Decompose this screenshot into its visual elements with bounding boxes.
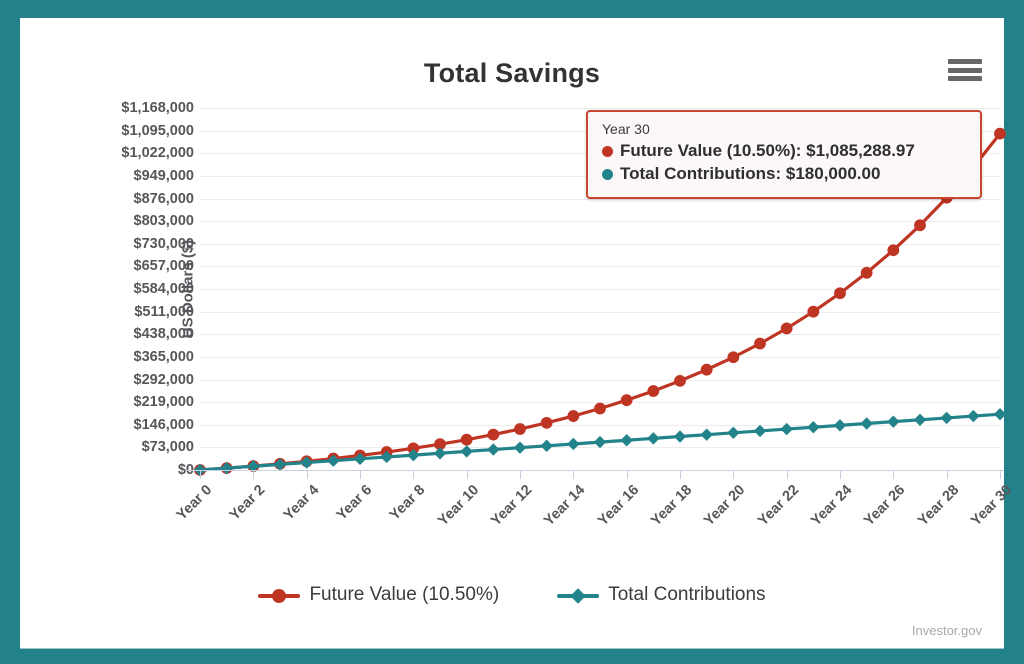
legend-symbol (557, 587, 599, 603)
legend-item-1[interactable]: Future Value (10.50%) (258, 584, 499, 606)
y-axis-tick-label: $511,000 (0, 304, 194, 320)
circle-marker (272, 589, 286, 603)
y-axis-tick-label: $292,000 (0, 372, 194, 388)
chart-panel: Total Savings US Dollars ($) $0$73,000$1… (20, 18, 1004, 648)
data-point-circle[interactable] (887, 244, 899, 256)
data-point-circle[interactable] (914, 219, 926, 231)
y-axis-tick-label: $438,000 (0, 326, 194, 342)
tooltip-row: Total Contributions: $180,000.00 (602, 163, 966, 186)
legend-label: Future Value (10.50%) (309, 584, 499, 606)
y-axis-tick-label: $146,000 (0, 417, 194, 433)
x-axis-tick (893, 470, 894, 479)
data-point-circle[interactable] (727, 351, 739, 363)
tooltip-header: Year 30 (602, 121, 966, 137)
data-point-diamond[interactable] (567, 438, 579, 450)
y-axis-tick-label: $73,000 (0, 439, 194, 455)
x-axis-tick (307, 470, 308, 479)
y-axis-tick-label: $1,095,000 (0, 123, 194, 139)
data-point-diamond[interactable] (940, 412, 952, 424)
data-point-diamond[interactable] (860, 417, 872, 429)
data-point-circle[interactable] (861, 267, 873, 279)
y-axis-tick-label: $657,000 (0, 258, 194, 274)
data-point-circle[interactable] (701, 364, 713, 376)
data-point-diamond[interactable] (540, 440, 552, 452)
data-point-diamond[interactable] (514, 441, 526, 453)
data-point-diamond[interactable] (887, 415, 899, 427)
y-axis-tick-label: $0 (0, 462, 194, 478)
data-point-diamond[interactable] (647, 432, 659, 444)
watermark: Investor.gov (912, 623, 982, 638)
chart-frame: Total Savings US Dollars ($) $0$73,000$1… (0, 0, 1024, 664)
data-point-circle[interactable] (567, 410, 579, 422)
x-axis-tick (733, 470, 734, 479)
data-point-diamond[interactable] (594, 436, 606, 448)
y-axis-tick-label: $1,022,000 (0, 145, 194, 161)
data-point-diamond[interactable] (700, 428, 712, 440)
menu-bar-1 (948, 59, 982, 64)
x-axis-tick (627, 470, 628, 479)
circle-marker (602, 146, 613, 157)
y-axis-tick-label: $949,000 (0, 168, 194, 184)
x-axis-tick (947, 470, 948, 479)
data-point-diamond[interactable] (780, 423, 792, 435)
x-axis-tick (787, 470, 788, 479)
data-point-diamond[interactable] (914, 414, 926, 426)
data-point-circle[interactable] (594, 403, 606, 415)
x-axis: Year 0Year 2Year 4Year 6Year 8Year 10Yea… (200, 470, 1000, 590)
x-axis-tick (1000, 470, 1001, 479)
data-point-diamond[interactable] (674, 430, 686, 442)
data-point-circle[interactable] (834, 287, 846, 299)
y-axis-tick-label: $1,168,000 (0, 100, 194, 116)
circle-marker (602, 169, 613, 180)
data-point-diamond[interactable] (754, 425, 766, 437)
tooltip-row: Future Value (10.50%): $1,085,288.97 (602, 140, 966, 163)
data-point-circle[interactable] (514, 423, 526, 435)
x-axis-tick (467, 470, 468, 479)
data-point-circle[interactable] (994, 128, 1006, 140)
page-title: Total Savings (20, 58, 1004, 89)
data-point-diamond[interactable] (967, 410, 979, 422)
data-point-diamond[interactable] (487, 443, 499, 455)
data-point-circle[interactable] (647, 385, 659, 397)
data-point-circle[interactable] (754, 338, 766, 350)
data-point-diamond[interactable] (460, 445, 472, 457)
x-axis-tick (573, 470, 574, 479)
legend: Future Value (10.50%)Total Contributions (20, 584, 1004, 606)
data-point-diamond[interactable] (834, 419, 846, 431)
data-point-circle[interactable] (461, 434, 473, 446)
data-point-circle[interactable] (674, 375, 686, 387)
y-axis-tick-label: $803,000 (0, 213, 194, 229)
x-axis-tick (840, 470, 841, 479)
y-axis-tick-label: $365,000 (0, 349, 194, 365)
data-point-circle[interactable] (807, 306, 819, 318)
y-axis-tick-label: $219,000 (0, 394, 194, 410)
y-axis-tick-label: $876,000 (0, 191, 194, 207)
legend-label: Total Contributions (608, 584, 765, 606)
hamburger-menu-icon[interactable] (948, 56, 982, 84)
x-axis-tick (253, 470, 254, 479)
y-axis-tick-label: $584,000 (0, 281, 194, 297)
data-point-circle[interactable] (781, 323, 793, 335)
x-axis-line (186, 470, 1004, 471)
x-axis-tick (520, 470, 521, 479)
legend-item-2[interactable]: Total Contributions (557, 584, 765, 606)
data-point-diamond[interactable] (434, 447, 446, 459)
menu-bar-3 (948, 76, 982, 81)
x-axis-tick (200, 470, 201, 479)
data-point-circle[interactable] (541, 417, 553, 429)
data-point-circle[interactable] (487, 429, 499, 441)
diamond-marker (570, 588, 585, 603)
data-point-diamond[interactable] (807, 421, 819, 433)
legend-symbol (258, 587, 300, 603)
tooltip: Year 30 Future Value (10.50%): $1,085,28… (586, 110, 982, 199)
y-axis-tick-label: $730,000 (0, 236, 194, 252)
x-axis-tick (360, 470, 361, 479)
tooltip-row-label: Future Value (10.50%): $1,085,288.97 (620, 140, 915, 163)
data-point-circle[interactable] (621, 394, 633, 406)
data-point-diamond[interactable] (994, 408, 1006, 420)
data-point-diamond[interactable] (620, 434, 632, 446)
data-point-diamond[interactable] (727, 427, 739, 439)
x-axis-tick (680, 470, 681, 479)
menu-bar-2 (948, 68, 982, 73)
tooltip-rows: Future Value (10.50%): $1,085,288.97Tota… (602, 140, 966, 186)
tooltip-row-label: Total Contributions: $180,000.00 (620, 163, 880, 186)
x-axis-tick (413, 470, 414, 479)
